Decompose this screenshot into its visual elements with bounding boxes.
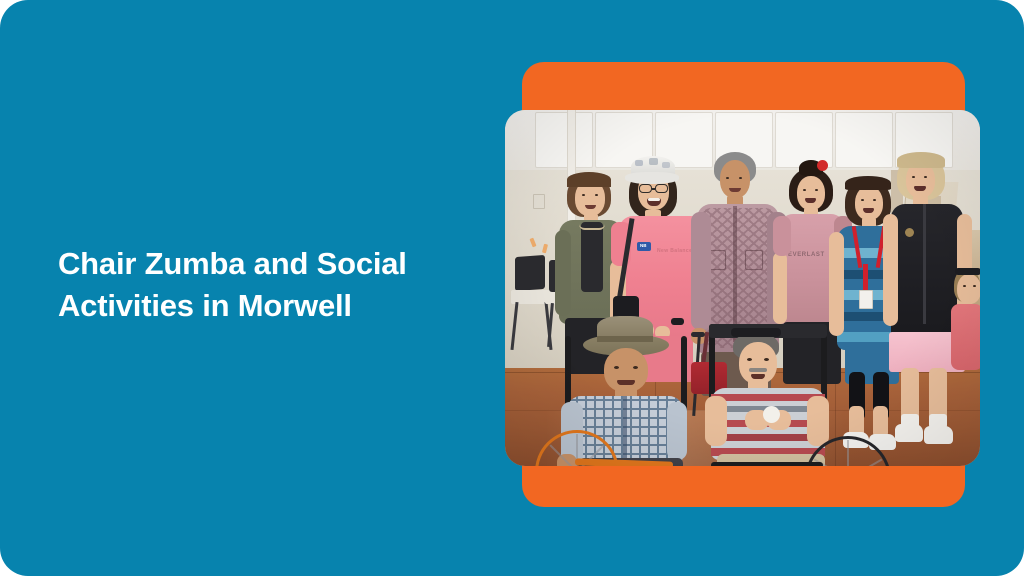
hair-top: [897, 152, 945, 168]
fringe: [845, 176, 891, 190]
eye: [861, 199, 864, 201]
wall-panel: [535, 112, 593, 168]
eye: [815, 189, 818, 191]
shirt-pocket: [745, 250, 763, 270]
mouth-smile: [914, 186, 926, 191]
page-title: Chair Zumba and Social Activities in Mor…: [58, 243, 458, 327]
eye: [582, 194, 585, 196]
eye: [633, 366, 638, 369]
mouth: [617, 380, 635, 385]
sunglasses-on-head: [731, 328, 781, 337]
slide-canvas: Chair Zumba and Social Activities in Mor…: [0, 0, 1024, 576]
inner-top: [581, 222, 603, 292]
necklace: [579, 224, 605, 230]
shirt-placket: [623, 396, 627, 460]
eye: [873, 199, 876, 201]
shirt-placket: [733, 206, 737, 342]
eye: [595, 194, 598, 196]
wrist-watch: [671, 318, 684, 325]
arm: [829, 232, 844, 336]
eye: [912, 176, 915, 178]
fringe: [567, 172, 611, 187]
eye: [803, 189, 806, 191]
face: [604, 348, 648, 392]
eye: [739, 177, 742, 179]
glasses-lens: [655, 184, 668, 193]
arm: [691, 212, 711, 330]
sleeve: [773, 216, 791, 256]
eye: [764, 358, 769, 361]
wall-fixture: [533, 194, 545, 209]
shoe: [924, 426, 953, 444]
eye: [747, 358, 752, 361]
moustache: [749, 368, 767, 372]
arm: [773, 252, 787, 324]
id-card: [859, 290, 873, 309]
hair-flower-clip: [817, 160, 828, 171]
eye: [963, 285, 966, 287]
cap-brim: [625, 172, 679, 184]
glasses-lens: [639, 184, 652, 193]
face: [855, 186, 883, 220]
wheelchair-frame-bar: [711, 462, 823, 466]
mouth-smile: [863, 208, 874, 213]
arm: [705, 396, 727, 446]
sunglasses-on-head: [955, 268, 980, 275]
face: [957, 274, 980, 304]
shirt-text: New Balance: [657, 248, 692, 254]
arm: [555, 230, 571, 316]
teeth: [648, 198, 660, 201]
brooch: [905, 228, 914, 237]
shirt-text: EVERLAST: [788, 252, 825, 258]
wheel-spoke: [847, 440, 849, 466]
cap-pattern: [662, 162, 670, 168]
shirt-logo-text: NB: [640, 243, 647, 248]
folding-chair: [515, 255, 545, 291]
face: [720, 160, 750, 198]
eye: [973, 285, 976, 287]
face: [797, 176, 825, 210]
shoe: [895, 424, 923, 442]
eye: [924, 176, 927, 178]
walking-stick-handle: [691, 332, 705, 337]
red-top: [951, 304, 980, 370]
mouth: [751, 374, 765, 379]
ball: [763, 406, 780, 423]
cap-pattern: [649, 158, 658, 165]
arm: [807, 396, 829, 446]
eye: [614, 366, 619, 369]
arm: [883, 214, 898, 326]
title-line-2: Activities in Morwell: [58, 285, 458, 327]
wall-panel: [835, 112, 893, 168]
glasses-bridge: [652, 188, 655, 190]
group-photo: NB New Balance: [505, 110, 980, 466]
top-placket: [923, 204, 926, 324]
hat-band: [597, 336, 653, 342]
mouth-smile: [805, 198, 816, 203]
eye: [726, 177, 729, 179]
arm: [667, 402, 687, 460]
cap-pattern: [635, 160, 643, 166]
title-line-1: Chair Zumba and Social: [58, 243, 458, 285]
lanyard-cord: [863, 264, 868, 292]
